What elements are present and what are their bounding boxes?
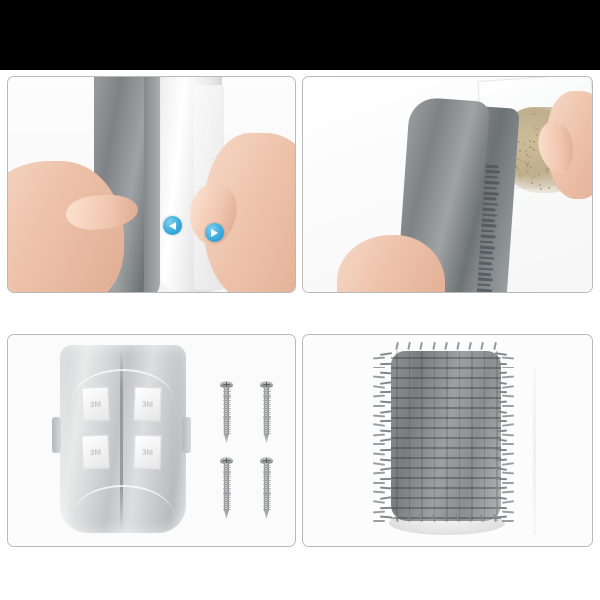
screw-thread (223, 404, 231, 405)
groomer-spike (380, 506, 392, 508)
groomer-spike (495, 506, 507, 508)
catnip-speck (534, 175, 536, 177)
groomer-column (446, 351, 448, 521)
groomer-spike (373, 510, 385, 513)
screw-thread (263, 484, 271, 485)
arrow-right-badge-icon (205, 223, 224, 242)
screw-thread (223, 505, 231, 506)
groomer-spike (502, 443, 514, 445)
groomer-column (396, 351, 398, 521)
screw-thread (223, 402, 231, 403)
catnip-speck (525, 150, 527, 152)
screw-thread (263, 395, 271, 396)
screw-thread (223, 416, 231, 417)
step-3-panel[interactable]: 3M3M3M3M (7, 334, 296, 547)
catnip-speck (530, 166, 532, 168)
screw-head-slot (223, 384, 230, 385)
groomer-spike (373, 414, 385, 417)
catnip-speck (519, 175, 521, 177)
screw-tip (224, 434, 229, 443)
catnip-speck (532, 177, 534, 179)
catnip-speck (523, 143, 525, 145)
catnip-speck (529, 156, 531, 158)
screw-thread (223, 473, 231, 474)
screw-thread (263, 404, 271, 405)
screw-thread (263, 400, 271, 401)
screw-thread (223, 400, 231, 401)
screw-thread (223, 471, 231, 472)
left-arrow-glyph (169, 222, 176, 230)
catnip-speck (533, 113, 535, 115)
screw-thread (223, 423, 231, 424)
screw-thread (263, 503, 271, 504)
screw-thread (223, 503, 231, 504)
screw (260, 457, 273, 519)
screw-thread (223, 480, 231, 481)
assembled-groomer-body (391, 351, 501, 521)
screw-thread (223, 497, 231, 498)
step-2-illustration (303, 77, 592, 292)
screw-thread (263, 471, 271, 472)
screw-thread (263, 499, 271, 500)
groomer-column (434, 351, 436, 521)
groomer-spike (380, 458, 392, 461)
screw-head-slot (223, 460, 230, 461)
screw-thread (263, 473, 271, 474)
brush-edge-strip (144, 76, 160, 293)
catnip-speck (538, 174, 540, 176)
catnip-speck (536, 134, 538, 136)
catnip-speck (526, 165, 528, 167)
screw-thread (263, 501, 271, 502)
catnip-speck (533, 149, 535, 151)
screw-thread (263, 427, 271, 428)
screw-thread (263, 478, 271, 479)
screw-thread (223, 499, 231, 500)
screw-thread (223, 478, 231, 479)
step-2-panel[interactable] (302, 76, 593, 293)
adhesive-pad: 3M (81, 387, 109, 422)
screw-thread (263, 494, 271, 495)
screw-thread (263, 418, 271, 419)
catnip-speck (526, 163, 528, 165)
screw-thread (263, 416, 271, 417)
catnip-speck (525, 169, 527, 171)
groomer-spike (373, 482, 385, 484)
steps-grid: 3M3M3M3M (0, 70, 600, 600)
catnip-speck (520, 160, 522, 162)
groomer-spike (495, 362, 507, 364)
screw-thread (223, 408, 231, 409)
groomer-spike (495, 458, 507, 461)
screw-thread (263, 505, 271, 506)
groomer-column (484, 351, 486, 521)
screw-thread (263, 425, 271, 426)
screw-tip (264, 510, 269, 519)
screw-thread (263, 429, 271, 430)
groomer-spike (502, 367, 514, 369)
groomer-column (409, 351, 411, 521)
catnip-speck (533, 126, 535, 128)
adhesive-pad: 3M (133, 387, 161, 422)
screw-thread (223, 395, 231, 396)
screw-thread (263, 421, 271, 422)
catnip-speck (546, 171, 548, 173)
step-3-illustration: 3M3M3M3M (8, 335, 295, 546)
catnip-speck (518, 141, 520, 143)
screw-thread (223, 429, 231, 430)
groomer-spike (502, 482, 514, 484)
screw-tip (264, 434, 269, 443)
screw-thread (223, 476, 231, 477)
groomer-column (459, 351, 461, 521)
groomer-column (421, 351, 423, 521)
groomer-spike (380, 478, 392, 480)
screw-thread (223, 427, 231, 428)
screw-thread (223, 421, 231, 422)
catnip-speck (535, 128, 537, 130)
adhesive-pad: 3M (133, 435, 161, 470)
catnip-speck (516, 166, 518, 168)
screw-thread (223, 397, 231, 398)
screw-thread (263, 482, 271, 483)
screw-thread (223, 425, 231, 426)
header-banner (0, 0, 600, 70)
groomer-spike (380, 362, 392, 364)
groomer-spike (502, 405, 514, 407)
base-tab-right (182, 417, 191, 453)
screw (220, 381, 233, 443)
catnip-speck (539, 184, 541, 186)
groomer-spike (373, 520, 385, 522)
catnip-speck (548, 187, 550, 189)
groomer-spike (502, 510, 514, 513)
catnip-speck (529, 140, 531, 142)
screw-thread (263, 480, 271, 481)
screw-thread (263, 408, 271, 409)
arrow-left-badge-icon (163, 216, 182, 235)
screw-thread (223, 482, 231, 483)
screw-thread (263, 476, 271, 477)
step-1-panel[interactable] (7, 76, 296, 293)
screw-head-slot (263, 384, 270, 385)
catnip-speck (546, 168, 548, 170)
screw-tip (224, 510, 229, 519)
screw-thread (223, 501, 231, 502)
groomer-spike (373, 405, 385, 407)
step-1-illustration (8, 77, 295, 292)
step-4-cell (302, 334, 593, 596)
screw-thread (263, 497, 271, 498)
catnip-speck (526, 154, 528, 156)
screw-thread (263, 402, 271, 403)
screw-thread (223, 484, 231, 485)
screw-thread (263, 406, 271, 407)
groomer-spike (495, 478, 507, 480)
groomer-spike (502, 414, 514, 417)
groomer-center-seam (533, 369, 536, 535)
screw-thread (223, 406, 231, 407)
screw-thread (263, 397, 271, 398)
groomer-spike (373, 367, 385, 369)
catnip-speck (533, 141, 535, 143)
groomer-column (471, 351, 473, 521)
screw-thread (263, 423, 271, 424)
screw-thread (223, 418, 231, 419)
step-3-cell: 3M3M3M3M (7, 334, 296, 596)
screw-head-slot (263, 460, 270, 461)
step-2-cell (302, 76, 593, 328)
adhesive-pad: 3M (81, 435, 109, 470)
catnip-speck (517, 168, 519, 170)
catnip-speck (517, 158, 519, 160)
groomer-spike (373, 443, 385, 445)
catnip-speck (526, 171, 528, 173)
catnip-speck (531, 182, 533, 184)
screw-thread (263, 492, 271, 493)
screw (220, 457, 233, 519)
catnip-speck (528, 161, 530, 163)
screw-thread (223, 494, 231, 495)
screw-thread (223, 492, 231, 493)
catnip-speck (519, 150, 521, 152)
screw (260, 381, 273, 443)
base-tab-left (52, 417, 61, 453)
catnip-speck (537, 128, 539, 130)
step-4-illustration (303, 335, 592, 546)
step-1-cell (7, 76, 296, 328)
step-4-panel[interactable] (302, 334, 593, 547)
catnip-speck (540, 188, 542, 190)
right-arrow-glyph (211, 229, 218, 237)
groomer-spike (502, 520, 514, 522)
groomer-spike (495, 449, 507, 451)
